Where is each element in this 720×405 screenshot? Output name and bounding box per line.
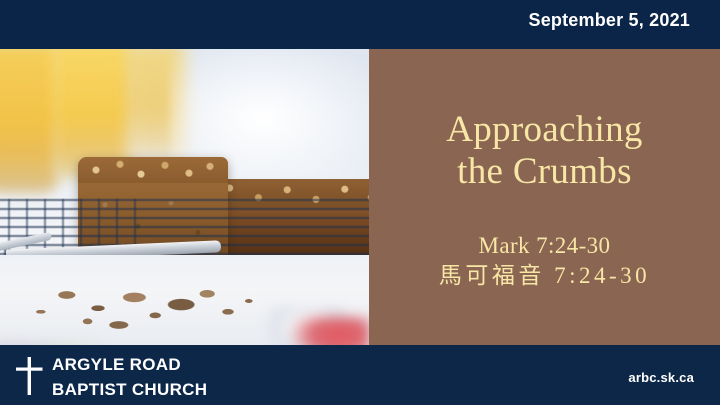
cross-icon: [14, 355, 46, 397]
juice-glass-left: [0, 49, 58, 193]
header-bar: September 5, 2021: [0, 0, 720, 49]
footer-bar: ARGYLE ROAD BAPTIST CHURCH arbc.sk.ca: [0, 345, 720, 405]
sermon-title-line2: the Crumbs: [369, 151, 720, 193]
cake-oat-topping-front: [78, 157, 228, 183]
church-name: ARGYLE ROAD BAPTIST CHURCH: [52, 353, 207, 402]
scripture-reference-chinese: 馬可福音 7:24-30: [369, 261, 720, 291]
service-date: September 5, 2021: [529, 10, 691, 31]
scripture-reference: Mark 7:24-30 馬可福音 7:24-30: [369, 231, 720, 292]
cake-crumbs: [20, 277, 280, 337]
sermon-photo: [0, 49, 369, 345]
sermon-title: Approaching the Crumbs: [369, 109, 720, 193]
sermon-title-line1: Approaching: [369, 109, 720, 151]
sermon-slide: September 5, 2021 Approaching the Crumbs…: [0, 0, 720, 405]
blurred-red-object: [292, 317, 369, 345]
church-name-line1: ARGYLE ROAD: [52, 353, 207, 378]
content-panel: Approaching the Crumbs Mark 7:24-30 馬可福音…: [369, 49, 720, 345]
scripture-reference-english: Mark 7:24-30: [369, 231, 720, 261]
church-name-line2: BAPTIST CHURCH: [52, 378, 207, 403]
website-url: arbc.sk.ca: [628, 370, 694, 385]
